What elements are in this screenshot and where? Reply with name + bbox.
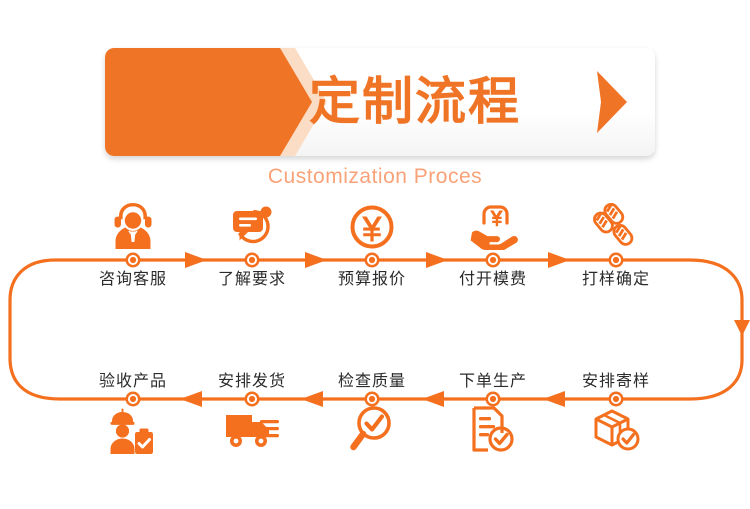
- step-label: 打样确定: [556, 265, 676, 289]
- step-label: 咨询客服: [73, 265, 193, 289]
- magnifier-check-icon: [312, 405, 432, 459]
- step-label: 验收产品: [73, 367, 193, 391]
- step-label: 安排寄样: [556, 367, 676, 391]
- step-label: 安排发货: [192, 367, 312, 391]
- step-label: 检查质量: [312, 367, 432, 391]
- step-consult-service[interactable]: 咨询客服: [73, 197, 193, 289]
- fabric-rolls-icon: [556, 197, 676, 251]
- step-label: 了解要求: [192, 265, 312, 289]
- step-label: 付开模费: [433, 265, 553, 289]
- yuan-coin-icon: [312, 197, 432, 251]
- document-check-icon: [433, 405, 553, 459]
- step-label: 预算报价: [312, 265, 432, 289]
- hand-holding-yuan-icon: [433, 197, 553, 251]
- step-understand-requirements[interactable]: 了解要求: [192, 197, 312, 289]
- step-check-quality[interactable]: 检查质量: [312, 367, 432, 459]
- step-accept-product[interactable]: 验收产品: [73, 367, 193, 459]
- delivery-truck-icon: [192, 405, 312, 459]
- step-arrange-sample-delivery[interactable]: 安排寄样: [556, 367, 676, 459]
- arrow-down-right: [734, 320, 750, 336]
- headset-support-agent-icon: [73, 197, 193, 251]
- chat-bubbles-icon: [192, 197, 312, 251]
- package-check-icon: [556, 405, 676, 459]
- step-place-order-production[interactable]: 下单生产: [433, 367, 553, 459]
- step-arrange-shipment[interactable]: 安排发货: [192, 367, 312, 459]
- step-sample-confirm[interactable]: 打样确定: [556, 197, 676, 289]
- inspector-clipboard-icon: [73, 405, 193, 459]
- step-label: 下单生产: [433, 367, 553, 391]
- step-budget-quote[interactable]: 预算报价: [312, 197, 432, 289]
- step-mold-fee[interactable]: 付开模费: [433, 197, 553, 289]
